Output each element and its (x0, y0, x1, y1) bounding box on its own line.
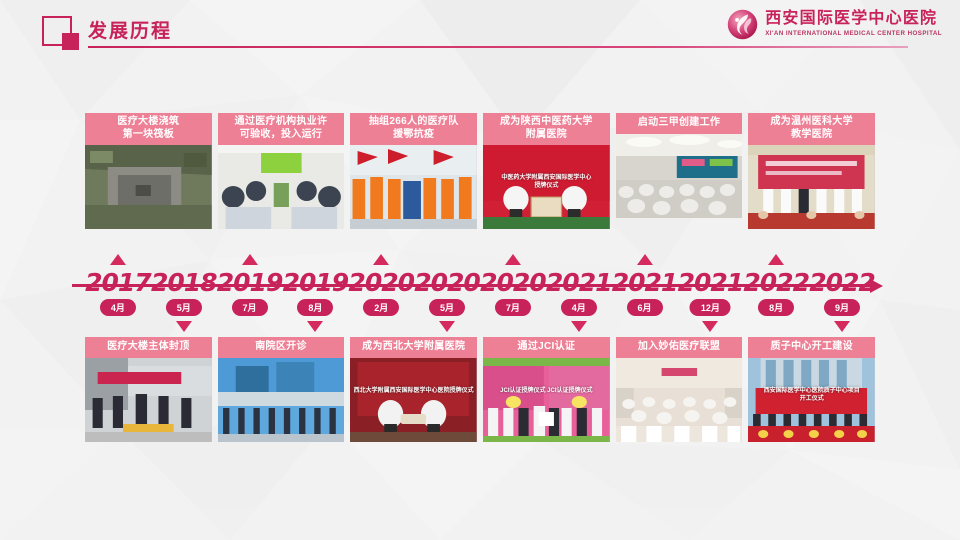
timeline-top-row: 医疗大楼浇筑 第一块筏板通过医疗机构执业许 可验收，投入运行抽组266人的医疗队… (85, 113, 875, 229)
timeline-event-card[interactable]: 抽组266人的医疗队 援鄂抗疫 (350, 113, 477, 229)
timeline-axis: 20174月20185月20197月20198月20202月20205月2020… (0, 254, 960, 332)
year-label: 2020 (480, 268, 546, 297)
month-badge: 9月 (824, 299, 860, 316)
pointer-down-icon (307, 321, 323, 332)
timeline-event-card[interactable]: 通过JCI认证JCI认证授牌仪式 JCI认证授牌仪式 (483, 337, 610, 442)
pointer-down-icon (834, 321, 850, 332)
event-photo-topping-out-ceremony[interactable] (85, 358, 212, 442)
event-photo-south-campus-opening[interactable] (218, 358, 345, 442)
event-caption: 抽组266人的医疗队 援鄂抗疫 (350, 113, 477, 145)
pointer-up-icon (242, 254, 258, 265)
event-photo-proton-center-groundbreaking[interactable]: 西安国际医学中心医院质子中心项目 开工仪式 (748, 358, 875, 442)
timeline-tick[interactable]: 20229月 (809, 254, 875, 332)
header-square-filled-icon (62, 33, 79, 50)
timeline-event-card[interactable]: 启动三甲创建工作 (616, 113, 743, 229)
year-label: 2021 (678, 268, 744, 297)
year-label: 2021 (612, 268, 678, 297)
month-badge: 4月 (100, 299, 136, 316)
timeline-board: 医疗大楼浇筑 第一块筏板通过医疗机构执业许 可验收，投入运行抽组266人的医疗队… (0, 56, 960, 540)
timeline-tick[interactable]: 202112月 (677, 254, 743, 332)
pointer-up-icon (505, 254, 521, 265)
year-label: 2019 (217, 268, 283, 297)
event-photo-jci-accreditation-ceremony[interactable]: JCI认证授牌仪式 JCI认证授牌仪式 (483, 358, 610, 442)
month-badge: 8月 (758, 299, 794, 316)
page-title: 发展历程 (88, 16, 172, 43)
phoenix-logo-icon (727, 9, 758, 40)
timeline-tick[interactable]: 20205月 (414, 254, 480, 332)
year-label: 2020 (414, 268, 480, 297)
event-photo-mayo-network-assembly[interactable] (616, 358, 743, 442)
page-header: 发展历程 西安国际医学中心医院 XI'AN INTERNATIONAL M (0, 0, 960, 56)
year-label: 2022 (809, 268, 875, 297)
year-label: 2020 (348, 268, 414, 297)
timeline-tick[interactable]: 20174月 (85, 254, 151, 332)
month-badge: 7月 (495, 299, 531, 316)
year-label: 2022 (743, 268, 809, 297)
event-caption: 医疗大楼浇筑 第一块筏板 (85, 113, 212, 145)
event-photo-affiliation-ceremony-nwu[interactable]: 西北大学附属西安国际医学中心医院授牌仪式 (350, 358, 477, 442)
timeline-event-card[interactable]: 南院区开诊 (218, 337, 345, 442)
pointer-up-icon (110, 254, 126, 265)
logo-name-cn: 西安国际医学中心医院 (765, 11, 942, 28)
event-caption: 成为陕西中医药大学 附属医院 (483, 113, 610, 145)
timeline-bottom-row: 医疗大楼主体封顶南院区开诊成为西北大学附属医院西北大学附属西安国际医学中心医院授… (85, 337, 875, 442)
photo-banner-text: 西北大学附属西安国际医学中心医院授牌仪式 (350, 387, 477, 395)
year-label: 2018 (151, 268, 217, 297)
event-caption: 南院区开诊 (218, 337, 345, 358)
year-label: 2021 (546, 268, 612, 297)
event-caption: 通过医疗机构执业许 可验收，投入运行 (218, 113, 345, 145)
timeline-event-card[interactable]: 医疗大楼主体封顶 (85, 337, 212, 442)
timeline-tick[interactable]: 20207月 (480, 254, 546, 332)
event-caption: 加入妙佑医疗联盟 (616, 337, 743, 358)
event-caption: 医疗大楼主体封顶 (85, 337, 212, 358)
timeline-tick[interactable]: 20185月 (151, 254, 217, 332)
pointer-up-icon (768, 254, 784, 265)
timeline-tick[interactable]: 20197月 (217, 254, 283, 332)
event-photo-grade-a-launch-assembly[interactable] (616, 134, 743, 218)
event-photo-aerial-construction-site[interactable] (85, 145, 212, 229)
month-badge: 5月 (166, 299, 202, 316)
month-badge: 8月 (297, 299, 333, 316)
timeline-ticks: 20174月20185月20197月20198月20202月20205月2020… (85, 254, 875, 332)
timeline-event-card[interactable]: 通过医疗机构执业许 可验收，投入运行 (218, 113, 345, 229)
month-badge: 6月 (627, 299, 663, 316)
pointer-down-icon (571, 321, 587, 332)
timeline-event-card[interactable]: 成为陕西中医药大学 附属医院中医药大学附属西安国际医学中心 授牌仪式 (483, 113, 610, 229)
header-divider (88, 46, 908, 48)
month-badge: 12月 (690, 299, 731, 316)
month-badge: 4月 (561, 299, 597, 316)
event-photo-medical-team-departure[interactable] (350, 145, 477, 229)
month-badge: 2月 (363, 299, 399, 316)
hospital-logo: 西安国际医学中心医院 XI'AN INTERNATIONAL MEDICAL C… (727, 9, 942, 40)
timeline-event-card[interactable]: 成为西北大学附属医院西北大学附属西安国际医学中心医院授牌仪式 (350, 337, 477, 442)
timeline-tick[interactable]: 20198月 (282, 254, 348, 332)
event-caption: 通过JCI认证 (483, 337, 610, 358)
event-caption: 成为温州医科大学 教学医院 (748, 113, 875, 145)
timeline-event-card[interactable]: 医疗大楼浇筑 第一块筏板 (85, 113, 212, 229)
timeline-tick[interactable]: 20228月 (743, 254, 809, 332)
timeline-event-card[interactable]: 成为温州医科大学 教学医院 (748, 113, 875, 229)
pointer-down-icon (702, 321, 718, 332)
month-badge: 5月 (429, 299, 465, 316)
timeline-event-card[interactable]: 质子中心开工建设西安国际医学中心医院质子中心项目 开工仪式 (748, 337, 875, 442)
photo-banner-text: JCI认证授牌仪式 JCI认证授牌仪式 (483, 387, 610, 395)
timeline-event-card[interactable]: 加入妙佑医疗联盟 (616, 337, 743, 442)
timeline-tick[interactable]: 20216月 (612, 254, 678, 332)
event-caption: 启动三甲创建工作 (616, 113, 743, 134)
year-label: 2019 (283, 268, 349, 297)
event-photo-affiliation-ceremony-tcm[interactable]: 中医药大学附属西安国际医学中心 授牌仪式 (483, 145, 610, 229)
event-caption: 成为西北大学附属医院 (350, 337, 477, 358)
pointer-down-icon (439, 321, 455, 332)
photo-banner-text: 中医药大学附属西安国际医学中心 授牌仪式 (483, 174, 610, 190)
pointer-down-icon (176, 321, 192, 332)
event-caption: 质子中心开工建设 (748, 337, 875, 358)
event-photo-conference-room-meeting[interactable] (218, 145, 345, 229)
logo-name-en: XI'AN INTERNATIONAL MEDICAL CENTER HOSPI… (765, 30, 942, 38)
photo-banner-text: 西安国际医学中心医院质子中心项目 开工仪式 (748, 387, 875, 403)
timeline-tick[interactable]: 20214月 (546, 254, 612, 332)
timeline-tick[interactable]: 20202月 (348, 254, 414, 332)
pointer-up-icon (637, 254, 653, 265)
month-badge: 7月 (232, 299, 268, 316)
pointer-up-icon (373, 254, 389, 265)
event-photo-teaching-hospital-ceremony[interactable] (748, 145, 875, 229)
year-label: 2017 (85, 268, 151, 297)
